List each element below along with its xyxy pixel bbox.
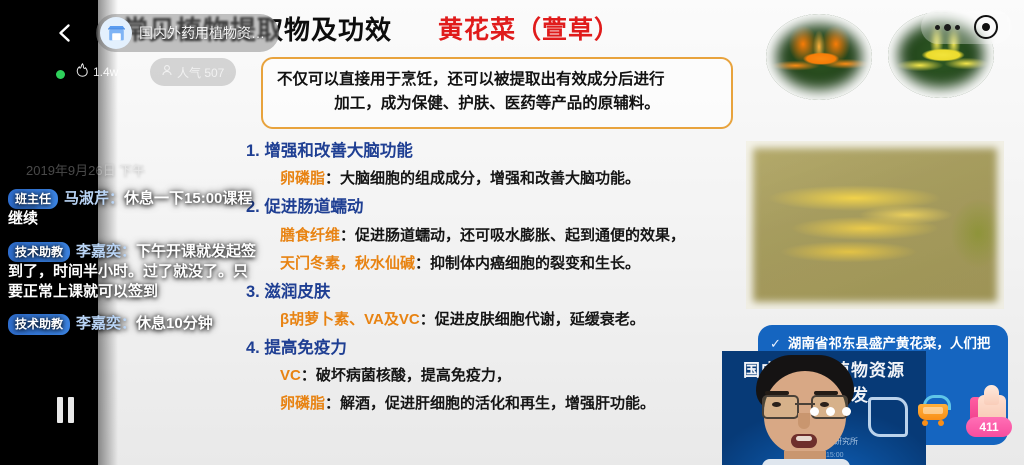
item-desc: ：抑制体内癌细胞的裂变和生长。 — [415, 255, 640, 272]
pip-dots-icon — [810, 407, 851, 416]
slide-body-list: 1. 增强和改善大脑功能 卵磷脂：大脑细胞的组成成分，增强和改善大脑功能。 2.… — [238, 140, 738, 421]
item-desc: ：破坏病菌核酸，提高免疫力， — [301, 367, 511, 384]
item-term: 卵磷脂 — [280, 395, 325, 412]
item-heading: 2. 促进肠道蠕动 — [238, 196, 738, 218]
like-count-badge: 411 — [966, 417, 1012, 437]
thumbs-up-icon[interactable]: 411 — [966, 385, 1012, 441]
top-right-controls — [921, 10, 1012, 44]
slide-subtitle: 黄花菜（萱草） — [438, 10, 620, 46]
shop-entry-label: 国内外药用植物资… — [139, 23, 265, 43]
item-term: VC — [280, 367, 301, 384]
highlight-callout: 不仅可以直接用于烹饪，还可以被提取出有效成分后进行 加工，成为保健、护肤、医药等… — [261, 57, 733, 129]
list-item: 1. 增强和改善大脑功能 卵磷脂：大脑细胞的组成成分，增强和改善大脑功能。 — [238, 140, 738, 189]
item-heading: 1. 增强和改善大脑功能 — [238, 140, 738, 162]
item-desc: ：促进肠道蠕动，还可吸水膨胀、起到通便的效果， — [340, 227, 685, 244]
presenter-pip[interactable]: 国内外药用植物资源 现代化开发 花卉研究所 15:00 — [722, 351, 926, 465]
dried-daylily-photo — [746, 141, 1004, 309]
shopping-cart-icon[interactable] — [916, 393, 952, 427]
record-target-icon[interactable] — [974, 15, 998, 39]
bracket-logo-icon — [868, 397, 908, 437]
livestream-screen: 常见植物提取物及功效 黄花菜（萱草） 不仅可以直接用于烹饪，还可以被提取出有效成… — [0, 0, 1024, 465]
orange-daylily-photo — [766, 14, 872, 100]
live-status-dot — [56, 70, 65, 79]
heat-counter: 1.4w — [76, 63, 118, 80]
popularity-pill: 人气 507 — [150, 58, 236, 86]
person-icon — [162, 65, 172, 79]
item-term: 天门冬素，秋水仙碱 — [280, 255, 415, 272]
list-item: 3. 滋润皮肤 β胡萝卜素、VA及VC：促进皮肤细胞代谢，延缓衰老。 — [238, 281, 738, 330]
left-rail: 1.4w — [0, 0, 98, 465]
heat-count: 1.4w — [93, 65, 118, 79]
item-term: 卵磷脂 — [280, 170, 325, 187]
list-item: 卵磷脂：解酒，促进肝细胞的活化和再生，增强肝功能。 — [238, 393, 738, 414]
flame-icon — [76, 63, 89, 80]
item-term: 膳食纤维 — [280, 227, 340, 244]
list-item: 2. 促进肠道蠕动 膳食纤维：促进肠道蠕动，还可吸水膨胀、起到通便的效果， — [238, 196, 738, 245]
shop-entry-pill[interactable]: 国内外药用植物资… — [96, 14, 279, 52]
list-item: 4. 提高免疫力 VC：破坏病菌核酸，提高免疫力， — [238, 337, 738, 386]
shop-icon — [100, 17, 132, 49]
back-chevron-icon[interactable] — [54, 22, 76, 44]
item-heading: 3. 滋润皮肤 — [238, 281, 738, 303]
item-desc: ：大脑细胞的组成成分，增强和改善大脑功能。 — [325, 170, 640, 187]
item-desc: ：促进皮肤细胞代谢，延缓衰老。 — [420, 311, 645, 328]
item-detail: β胡萝卜素、VA及VC：促进皮肤细胞代谢，延缓衰老。 — [238, 309, 738, 330]
callout-line-1: 不仅可以直接用于烹饪，还可以被提取出有效成分后进行 — [277, 68, 717, 92]
more-dots-icon[interactable] — [935, 24, 960, 31]
item-detail: 天门冬素，秋水仙碱：抑制体内癌细胞的裂变和生长。 — [238, 253, 738, 274]
callout-line-2: 加工，成为保健、护肤、医药等产品的原辅料。 — [277, 92, 717, 116]
list-item: 天门冬素，秋水仙碱：抑制体内癌细胞的裂变和生长。 — [238, 253, 738, 274]
item-detail: 卵磷脂：解酒，促进肝细胞的活化和再生，增强肝功能。 — [238, 393, 738, 414]
popularity-label: 人气 507 — [177, 64, 224, 81]
item-term: β胡萝卜素、VA及VC — [280, 311, 420, 328]
item-detail: 卵磷脂：大脑细胞的组成成分，增强和改善大脑功能。 — [238, 168, 738, 189]
item-detail: 膳食纤维：促进肠道蠕动，还可吸水膨胀、起到通便的效果， — [238, 225, 738, 246]
item-heading: 4. 提高免疫力 — [238, 337, 738, 359]
pause-icon[interactable] — [55, 397, 77, 423]
item-desc: ：解酒，促进肝细胞的活化和再生，增强肝功能。 — [325, 395, 655, 412]
item-detail: VC：破坏病菌核酸，提高免疫力， — [238, 365, 738, 386]
